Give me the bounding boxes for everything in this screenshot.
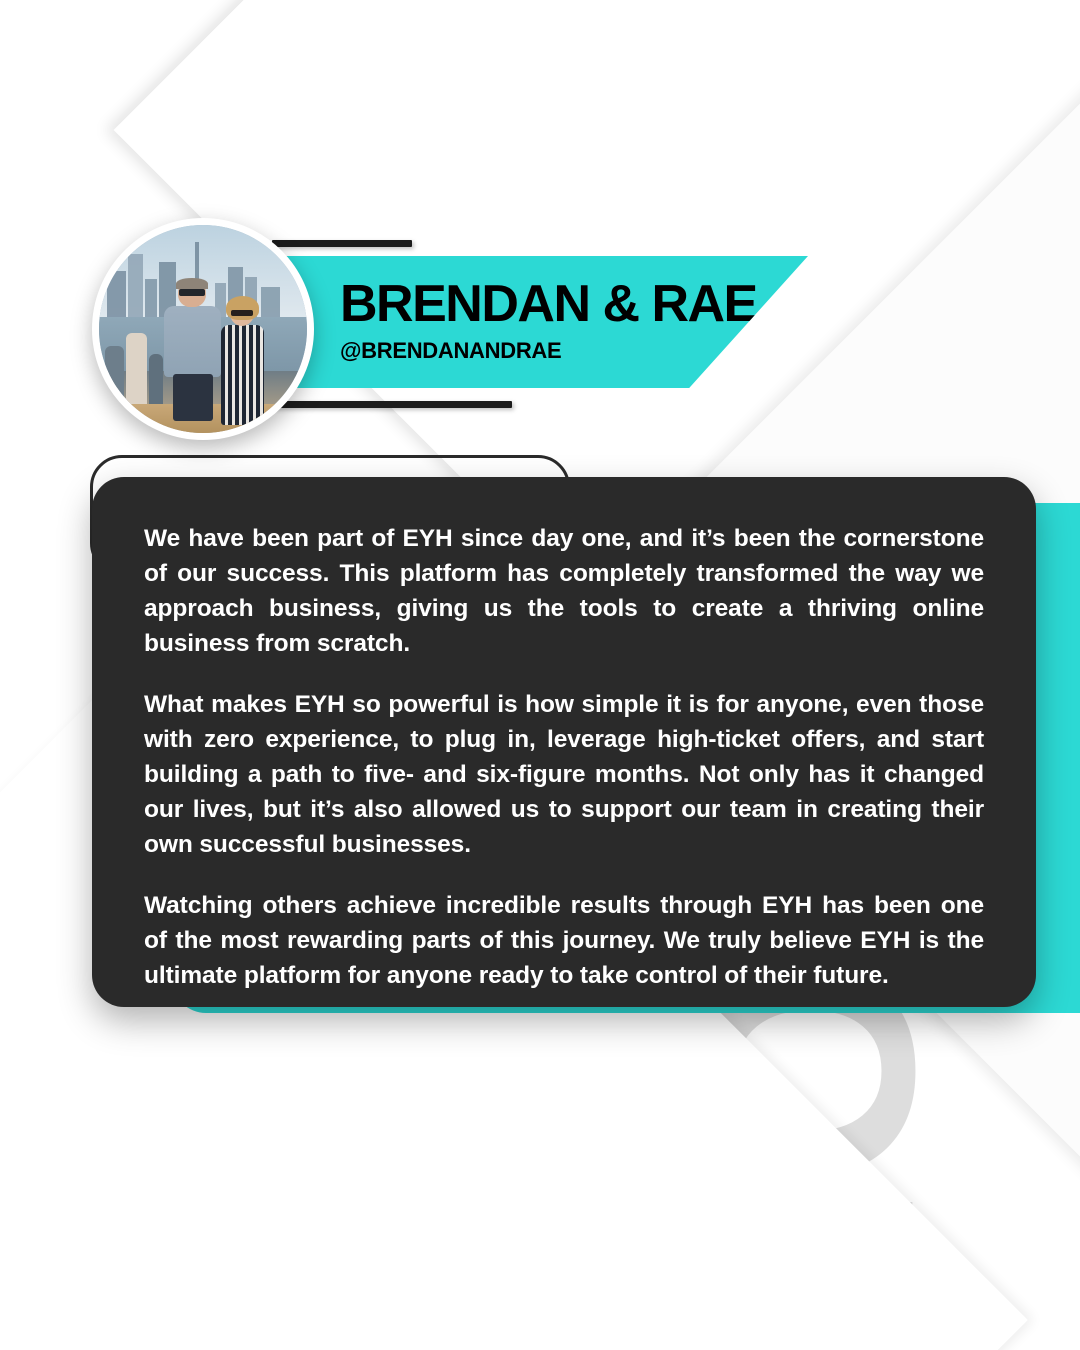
photo-striped-dress (221, 325, 264, 425)
photo-background-person (126, 333, 147, 404)
skyline-building (107, 271, 126, 317)
photo-background-person (105, 346, 124, 404)
decorative-rule-bottom (272, 401, 512, 408)
testimonial-paragraph: Watching others achieve incredible resul… (144, 888, 984, 993)
photo-shorts (173, 374, 213, 421)
social-handle: @BRENDANANDRAE (340, 338, 757, 364)
skyline-building (145, 279, 157, 316)
profile-header: BRENDAN & RAE @BRENDANANDRAE (0, 0, 1080, 470)
testimonial-paragraph: What makes EYH so powerful is how simple… (144, 687, 984, 862)
photo-hair (176, 278, 207, 289)
testimonial-card: We have been part of EYH since day one, … (92, 477, 1036, 1007)
testimonial-poster: WINNING MOMENT BRENDAN & RAE @BRENDANAND… (0, 0, 1080, 1350)
photo-person-brendan (161, 279, 223, 420)
photo-person-rae (215, 300, 269, 425)
photo-hair (226, 296, 260, 320)
photo-sunglasses (231, 310, 253, 316)
avatar-photo (99, 225, 307, 433)
testimonial-paragraph: We have been part of EYH since day one, … (144, 521, 984, 661)
name-banner: BRENDAN & RAE @BRENDANANDRAE (268, 256, 808, 388)
avatar (92, 218, 314, 440)
photo-sunglasses (179, 289, 205, 296)
testimonial-card-stack: We have been part of EYH since day one, … (76, 455, 1026, 1030)
page-title: BRENDAN & RAE (340, 278, 757, 330)
name-banner-content: BRENDAN & RAE @BRENDANANDRAE (340, 278, 757, 364)
photo-shirt (164, 306, 221, 377)
skyline-building (128, 254, 143, 316)
